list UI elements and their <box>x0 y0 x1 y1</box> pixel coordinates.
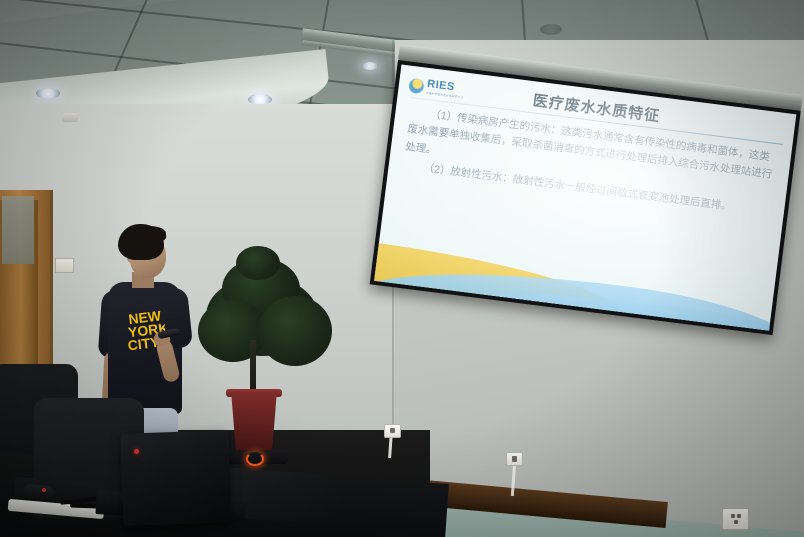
wall-socket[interactable] <box>384 424 401 438</box>
plant-pot <box>228 392 280 456</box>
plant-foliage <box>236 246 280 280</box>
room-photo: RIES 中国科学院生态环境研究中心 医疗废水水质特征 （1）传染病房产生的污水… <box>0 0 804 537</box>
plant-foliage <box>258 296 332 366</box>
thinkpad-logo-icon <box>134 449 139 454</box>
led-indicator-icon <box>246 452 264 466</box>
door-glass-pane <box>2 196 34 264</box>
presentation-slide: RIES 中国科学院生态环境研究中心 医疗废水水质特征 （1）传染病房产生的污水… <box>374 64 796 330</box>
light-switch[interactable] <box>55 258 74 273</box>
ceiling-downlight <box>362 62 378 70</box>
wall-socket[interactable] <box>722 508 749 530</box>
ceiling-downlight <box>36 88 60 99</box>
ceiling-downlight-dim <box>540 24 562 35</box>
smoke-detector-icon <box>62 113 78 122</box>
projection-screen: RIES 中国科学院生态环境研究中心 医疗废水水质特征 （1）传染病房产生的污水… <box>362 60 804 400</box>
plant-trunk <box>250 340 256 396</box>
laptop[interactable] <box>120 430 231 526</box>
mouse-indicator-icon <box>42 488 46 492</box>
wall-socket[interactable] <box>506 452 523 466</box>
